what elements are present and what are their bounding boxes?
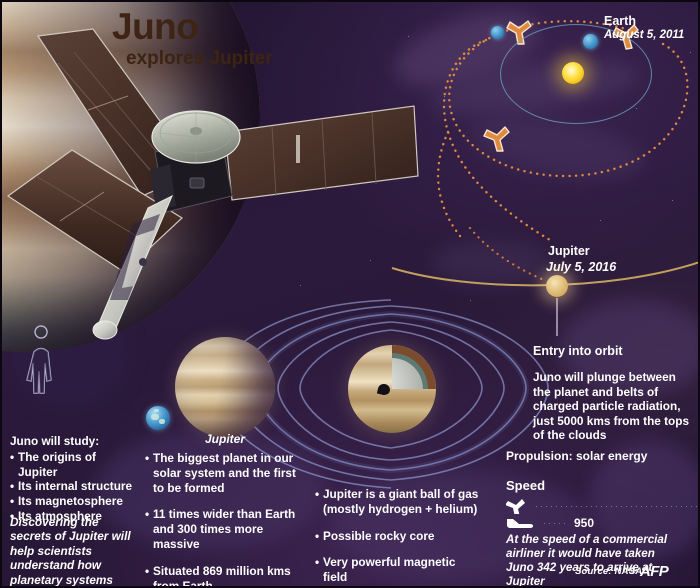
sun-icon bbox=[562, 62, 584, 84]
list-item: Jupiter is a giant ball of gas (mostly h… bbox=[315, 487, 480, 517]
earth-label: Earth bbox=[604, 14, 636, 28]
speed-dotted-line-airliner bbox=[542, 523, 568, 524]
study-list: The origins of Jupiter Its internal stru… bbox=[10, 450, 135, 524]
copyright-symbol: © bbox=[629, 566, 636, 576]
study-panel: Juno will study: The origins of Jupiter … bbox=[10, 434, 135, 524]
earth-icon-launch bbox=[491, 26, 504, 39]
list-item: Possible rocky core bbox=[315, 529, 480, 544]
jupiter-facts-list: The biggest planet in our solar system a… bbox=[145, 451, 305, 588]
list-item: Situated 869 million kms from Earth bbox=[145, 564, 305, 588]
earth-icon-flyby bbox=[583, 34, 598, 49]
jupiter-icon-orbit bbox=[546, 275, 568, 297]
list-item: Its internal structure bbox=[10, 479, 135, 494]
composition-facts-panel: Jupiter is a giant ball of gas (mostly h… bbox=[315, 487, 480, 585]
list-item: The origins of Jupiter bbox=[10, 450, 135, 480]
composition-facts-list: Jupiter is a giant ball of gas (mostly h… bbox=[315, 487, 480, 585]
propulsion-label: Propulsion: solar energy bbox=[506, 449, 647, 463]
jupiter-cutaway-planet bbox=[348, 345, 436, 433]
juno-spacecraft-icon bbox=[506, 498, 526, 514]
jupiter-size-comparison-planet bbox=[175, 337, 275, 437]
study-note: Discovering the secrets of Jupiter will … bbox=[10, 515, 138, 588]
list-item: Very powerful magnetic field bbox=[315, 555, 480, 585]
jupiter-arrival-label: Jupiter bbox=[548, 244, 590, 258]
earth-size-comparison-planet bbox=[146, 406, 170, 430]
jupiter-arrival-date: July 5, 2016 bbox=[546, 260, 616, 274]
airplane-icon bbox=[506, 517, 534, 530]
list-item: Its magnetosphere bbox=[10, 494, 135, 509]
airliner-speed-value: 950 bbox=[574, 516, 594, 530]
entry-into-orbit-text: Juno will plunge between the planet and … bbox=[533, 370, 693, 443]
speed-heading: Speed bbox=[506, 478, 545, 493]
page-subtitle: explores Jupiter bbox=[126, 48, 273, 70]
speed-dotted-line-juno bbox=[534, 506, 700, 507]
infographic-root: Juno explores Jupiter bbox=[0, 0, 700, 588]
magnetosphere-diagram bbox=[296, 292, 486, 482]
entry-into-orbit-title: Entry into orbit bbox=[533, 344, 623, 358]
earth-date-label: August 5, 2011 bbox=[604, 29, 684, 41]
afp-logo: AFP bbox=[640, 563, 668, 580]
jupiter-caption: Jupiter bbox=[175, 432, 275, 446]
jupiter-shading bbox=[175, 337, 275, 437]
jupiter-interior-cutaway bbox=[392, 345, 436, 389]
page-title: Juno bbox=[112, 6, 198, 48]
list-item: The biggest planet in our solar system a… bbox=[145, 451, 305, 495]
jupiter-facts-panel: The biggest planet in our solar system a… bbox=[145, 451, 305, 588]
list-item: 11 times wider than Earth and 300 times … bbox=[145, 507, 305, 551]
speed-row-juno: 265,500 kph bbox=[506, 498, 700, 514]
study-heading: Juno will study: bbox=[10, 434, 135, 449]
speed-row-airliner: 950 bbox=[506, 516, 594, 530]
